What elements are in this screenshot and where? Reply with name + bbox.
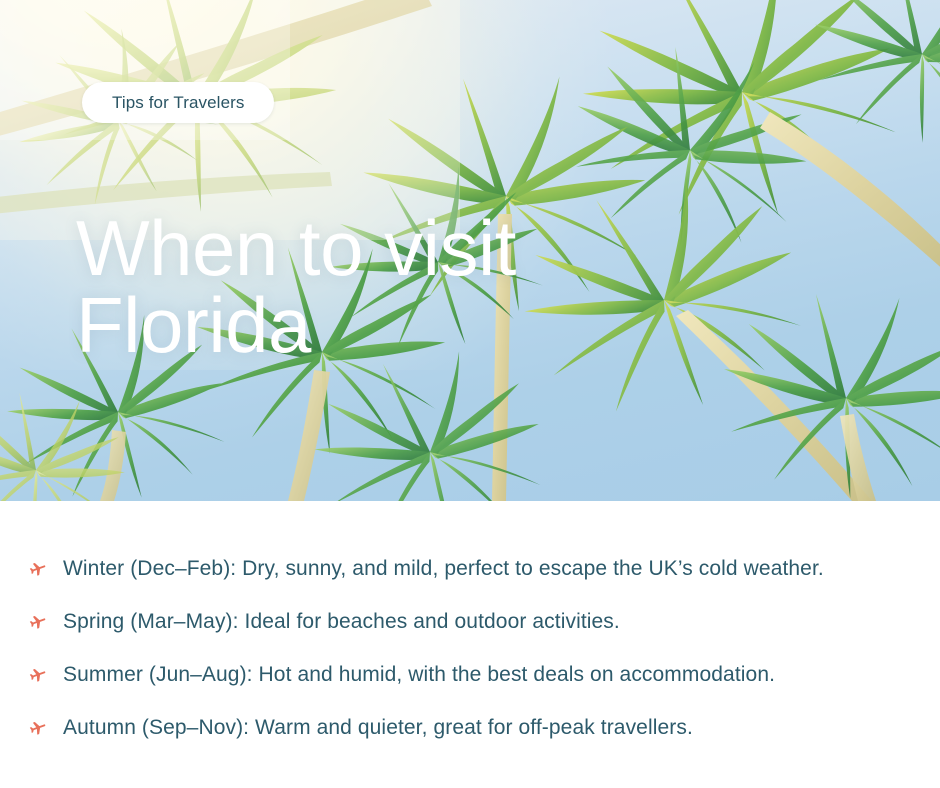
list-item-label: Spring (Mar–May): Ideal for beaches and … <box>63 608 620 636</box>
airplane-icon <box>25 610 49 634</box>
list-item: Spring (Mar–May): Ideal for beaches and … <box>0 595 940 648</box>
hero-image: Tips for Travelers When to visit Florida <box>0 0 940 501</box>
travel-tips-card: Tips for Travelers When to visit Florida… <box>0 0 940 788</box>
list-item: Summer (Jun–Aug): Hot and humid, with th… <box>0 648 940 701</box>
tips-badge-label: Tips for Travelers <box>112 93 244 113</box>
airplane-icon <box>25 663 49 687</box>
airplane-icon <box>25 557 49 581</box>
airplane-icon <box>25 716 49 740</box>
list-item-label: Summer (Jun–Aug): Hot and humid, with th… <box>63 661 775 689</box>
tips-list: Winter (Dec–Feb): Dry, sunny, and mild, … <box>0 501 940 754</box>
page-title: When to visit Florida <box>76 210 636 364</box>
list-item-label: Winter (Dec–Feb): Dry, sunny, and mild, … <box>63 555 824 583</box>
tips-badge[interactable]: Tips for Travelers <box>82 82 274 123</box>
list-item: Winter (Dec–Feb): Dry, sunny, and mild, … <box>0 542 940 595</box>
page-title-line-1: When to visit <box>76 210 636 287</box>
page-title-line-2: Florida <box>76 287 636 364</box>
list-item: Autumn (Sep–Nov): Warm and quieter, grea… <box>0 701 940 754</box>
list-item-label: Autumn (Sep–Nov): Warm and quieter, grea… <box>63 714 693 742</box>
